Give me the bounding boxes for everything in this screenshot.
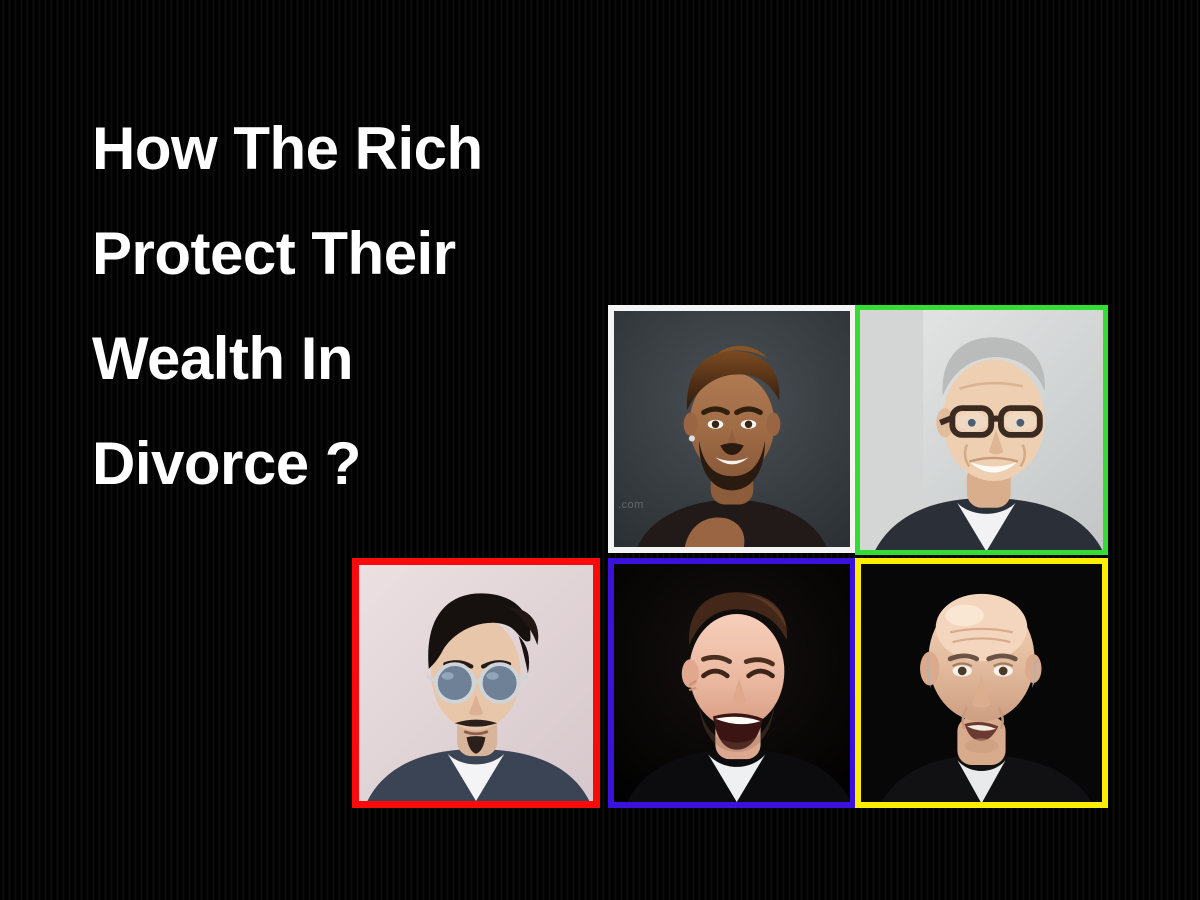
portrait-photo-depp <box>359 565 593 801</box>
photo-tile-hardik[interactable]: .com <box>608 305 856 553</box>
portrait-photo-hardik <box>614 311 850 547</box>
celebrity-photo-grid: .com <box>352 305 1108 808</box>
portrait-photo-musk <box>614 564 850 802</box>
photo-tile-bezos[interactable] <box>855 558 1108 808</box>
portrait-photo-gates <box>860 310 1103 550</box>
photo-tile-musk[interactable] <box>608 558 856 808</box>
photo-tile-gates[interactable] <box>855 305 1108 555</box>
portrait-photo-bezos <box>861 564 1102 802</box>
photo-tile-depp[interactable] <box>352 558 600 808</box>
thumbnail-canvas: How The Rich Protect Their Wealth In Div… <box>0 0 1200 900</box>
